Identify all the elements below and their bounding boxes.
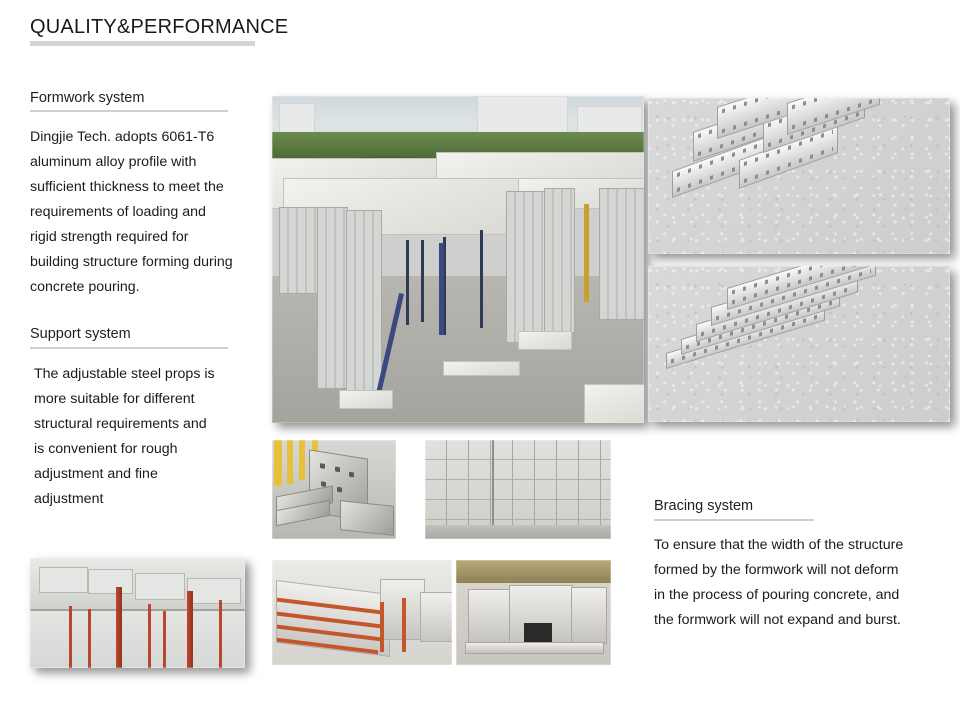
section-body-formwork: Dingjie Tech. adopts 6061-T6 aluminum al… [30, 125, 235, 300]
image-beam-profiles-render [648, 266, 950, 422]
section-rule-support [30, 347, 228, 349]
image-formwork-components [272, 440, 396, 539]
page-title: QUALITY&PERFORMANCE [30, 16, 288, 39]
image-steel-props-support [30, 558, 245, 668]
slide-canvas: QUALITY&PERFORMANCE Formwork system Ding… [0, 0, 960, 720]
image-wall-formwork-render [648, 98, 950, 254]
section-rule-bracing [654, 519, 814, 521]
title-underline [30, 41, 255, 46]
section-heading-support: Support system [30, 326, 131, 342]
image-construction-site [272, 96, 644, 423]
section-body-bracing: To ensure that the width of the structur… [654, 533, 912, 633]
section-body-support: The adjustable steel props is more suita… [34, 362, 219, 512]
image-factory-trial-assembly [456, 560, 611, 665]
section-rule-formwork [30, 110, 228, 112]
image-formwork-yard [272, 560, 452, 665]
image-assembled-wall-interior [425, 440, 611, 539]
section-heading-bracing: Bracing system [654, 498, 753, 514]
section-heading-formwork: Formwork system [30, 90, 144, 106]
